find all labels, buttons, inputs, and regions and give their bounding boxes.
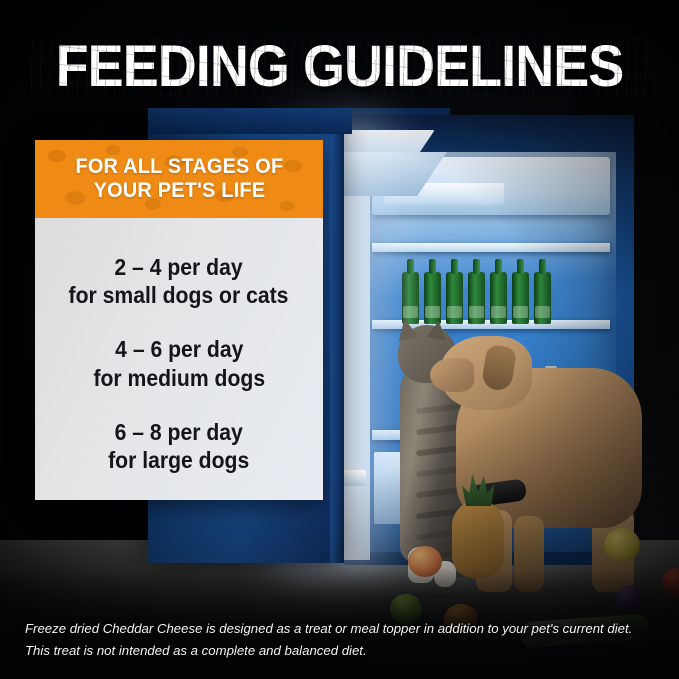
bottle-icon bbox=[424, 272, 441, 324]
disclaimer-line-2: This treat is not intended as a complete… bbox=[25, 640, 661, 661]
bottle-icon bbox=[512, 272, 529, 324]
beer-bottles-group bbox=[402, 262, 562, 324]
feeding-audience: for large dogs bbox=[108, 446, 249, 474]
panel-header: FOR ALL STAGES OF YOUR PET'S LIFE bbox=[35, 140, 323, 218]
panel-header-line-1: FOR ALL STAGES OF bbox=[75, 155, 283, 179]
grapes-icon bbox=[616, 586, 642, 610]
panel-header-text: FOR ALL STAGES OF YOUR PET'S LIFE bbox=[75, 155, 283, 202]
panel-body: 2 – 4 per day for small dogs or cats 4 –… bbox=[35, 218, 323, 500]
feeding-row: 2 – 4 per day for small dogs or cats bbox=[59, 253, 298, 309]
bottle-icon bbox=[402, 272, 419, 324]
dog-muzzle bbox=[430, 358, 474, 392]
apple-icon bbox=[408, 546, 442, 577]
feeding-row: 6 – 8 per day for large dogs bbox=[102, 418, 255, 474]
bottle-icon bbox=[534, 272, 551, 324]
feeding-audience: for small dogs or cats bbox=[69, 281, 289, 309]
feeding-amount: 6 – 8 per day bbox=[108, 418, 249, 446]
feeding-guidelines-panel: FOR ALL STAGES OF YOUR PET'S LIFE 2 – 4 … bbox=[35, 140, 323, 500]
feeding-audience: for medium dogs bbox=[93, 364, 265, 392]
page-title: FEEDING GUIDELINES bbox=[24, 38, 655, 96]
disclaimer-line-1: Freeze dried Cheddar Cheese is designed … bbox=[25, 618, 661, 639]
bottle-icon bbox=[446, 272, 463, 324]
bottle-icon bbox=[468, 272, 485, 324]
bottle-icon bbox=[490, 272, 507, 324]
pear-icon bbox=[604, 528, 640, 562]
disclaimer: Freeze dried Cheddar Cheese is designed … bbox=[25, 618, 661, 661]
dog-front-leg-far bbox=[514, 516, 544, 592]
feeding-row: 4 – 6 per day for medium dogs bbox=[86, 335, 273, 391]
refrigerator-door-top-edge bbox=[148, 108, 352, 134]
page-title-text: FEEDING GUIDELINES bbox=[56, 34, 624, 99]
panel-header-line-2: YOUR PET'S LIFE bbox=[75, 179, 283, 203]
feeding-amount: 4 – 6 per day bbox=[93, 335, 265, 363]
feeding-guidelines-graphic: FEEDING GUIDELINES FOR ALL STAGES OF YOU… bbox=[0, 0, 679, 679]
feeding-amount: 2 – 4 per day bbox=[69, 253, 289, 281]
refrigerator-door-edge bbox=[330, 108, 344, 563]
fridge-shelf-top bbox=[372, 243, 610, 252]
pineapple-icon bbox=[452, 500, 504, 578]
